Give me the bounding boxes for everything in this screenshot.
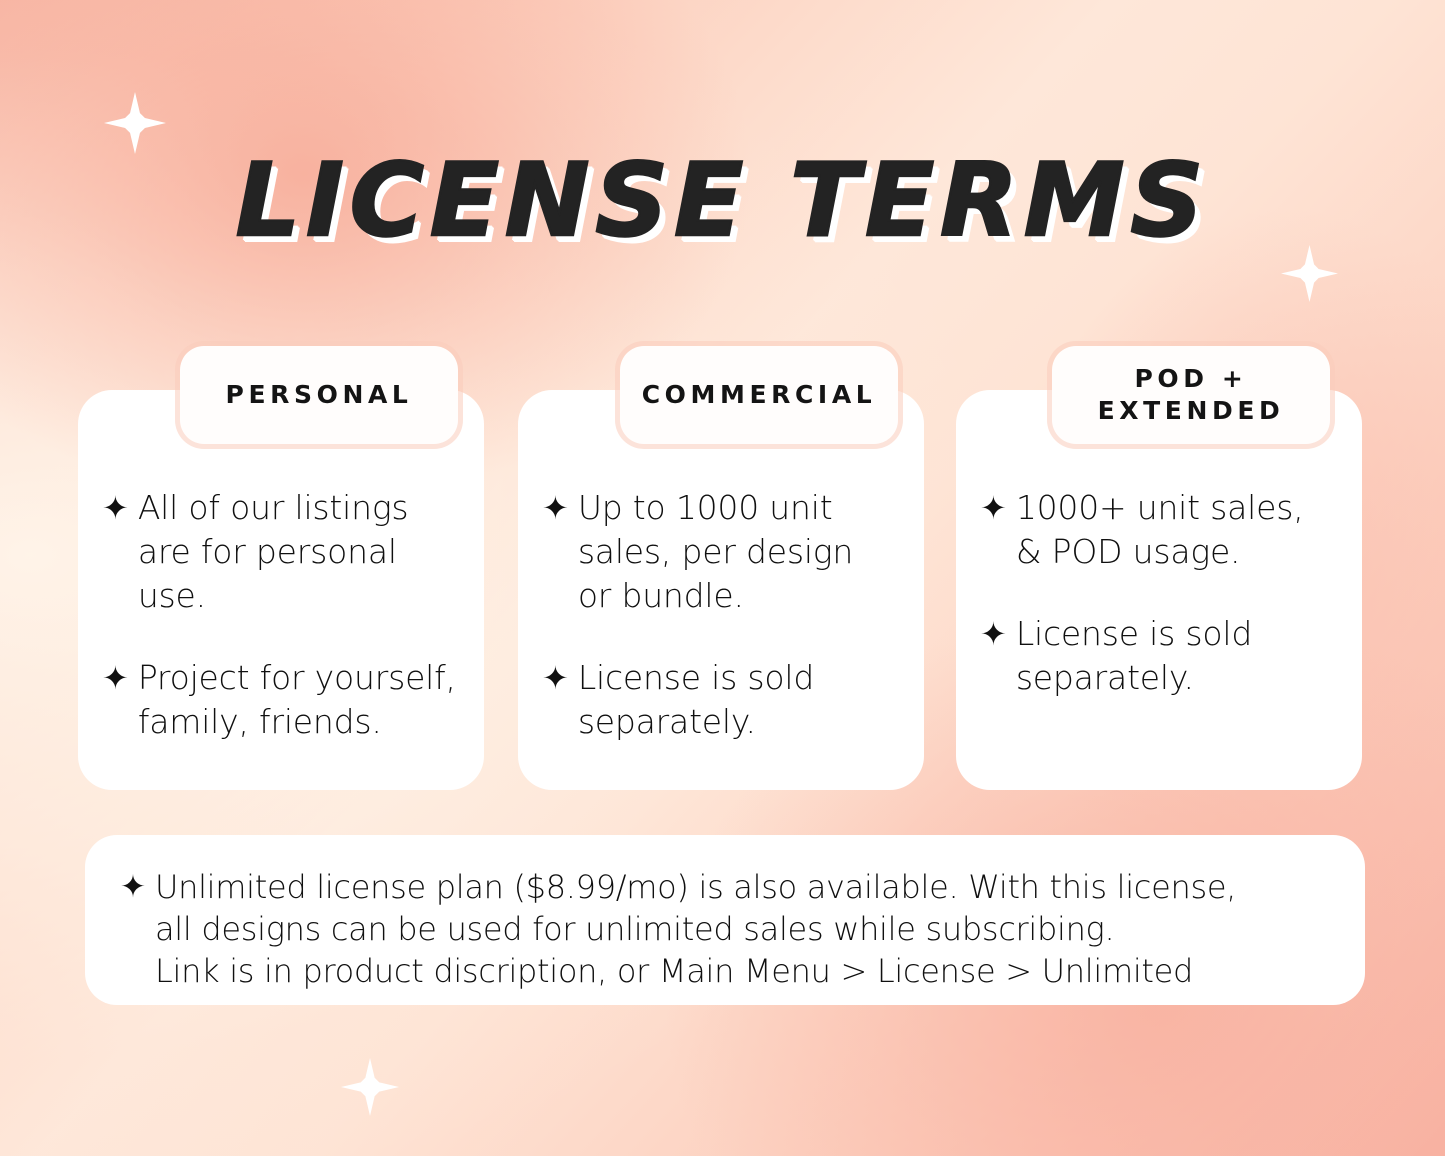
four-point-star-bullet-icon: ✦ xyxy=(102,486,129,530)
list-item: ✦ All of our listings are for personal u… xyxy=(102,486,466,618)
card-header-label: PERSONAL xyxy=(226,379,413,411)
list-item-text: 1000+ unit sales, & POD usage. xyxy=(1016,486,1304,574)
list-item: ✦ 1000+ unit sales, & POD usage. xyxy=(980,486,1344,574)
list-item: ✦ License is sold separately. xyxy=(542,656,906,744)
list-item-text: Project for yourself, family, friends. xyxy=(138,656,456,744)
card-header-label: POD + EXTENDED xyxy=(1098,363,1285,427)
list-item: ✦ License is sold separately. xyxy=(980,612,1344,700)
license-card-pod-extended: ✦ 1000+ unit sales, & POD usage. ✦ Licen… xyxy=(956,390,1362,790)
card-bullet-list: ✦ 1000+ unit sales, & POD usage. ✦ Licen… xyxy=(980,486,1344,700)
license-terms-graphic: LICENSE TERMS ✦ All of our listings are … xyxy=(0,0,1445,1156)
card-header-tab-personal: PERSONAL xyxy=(180,346,458,444)
license-card-personal: ✦ All of our listings are for personal u… xyxy=(78,390,484,790)
four-point-star-bullet-icon: ✦ xyxy=(542,656,569,700)
list-item-text: License is sold separately. xyxy=(1016,612,1252,700)
four-point-star-bullet-icon: ✦ xyxy=(542,486,569,530)
card-bullet-list: ✦ Up to 1000 unit sales, per design or b… xyxy=(542,486,906,744)
card-bullet-list: ✦ All of our listings are for personal u… xyxy=(102,486,466,744)
card-header-tab-pod-extended: POD + EXTENDED xyxy=(1052,346,1330,444)
banner-content: ✦ Unlimited license plan ($8.99/mo) is a… xyxy=(85,835,1365,992)
list-item: ✦ Up to 1000 unit sales, per design or b… xyxy=(542,486,906,618)
four-point-star-bullet-icon: ✦ xyxy=(102,656,129,700)
four-point-star-bullet-icon: ✦ xyxy=(980,612,1007,656)
page-title: LICENSE TERMS xyxy=(0,150,1445,251)
card-header-tab-commercial: COMMERCIAL xyxy=(620,346,898,444)
banner-text: Unlimited license plan ($8.99/mo) is als… xyxy=(155,866,1236,992)
four-point-star-bullet-icon: ✦ xyxy=(120,866,146,908)
list-item-text: Up to 1000 unit sales, per design or bun… xyxy=(578,486,853,618)
list-item-text: License is sold separately. xyxy=(578,656,814,744)
four-point-star-bullet-icon: ✦ xyxy=(980,486,1007,530)
list-item-text: All of our listings are for personal use… xyxy=(138,486,409,618)
card-header-label: COMMERCIAL xyxy=(642,379,877,411)
list-item: ✦ Project for yourself, family, friends. xyxy=(102,656,466,744)
license-card-commercial: ✦ Up to 1000 unit sales, per design or b… xyxy=(518,390,924,790)
unlimited-plan-banner: ✦ Unlimited license plan ($8.99/mo) is a… xyxy=(85,835,1365,1005)
